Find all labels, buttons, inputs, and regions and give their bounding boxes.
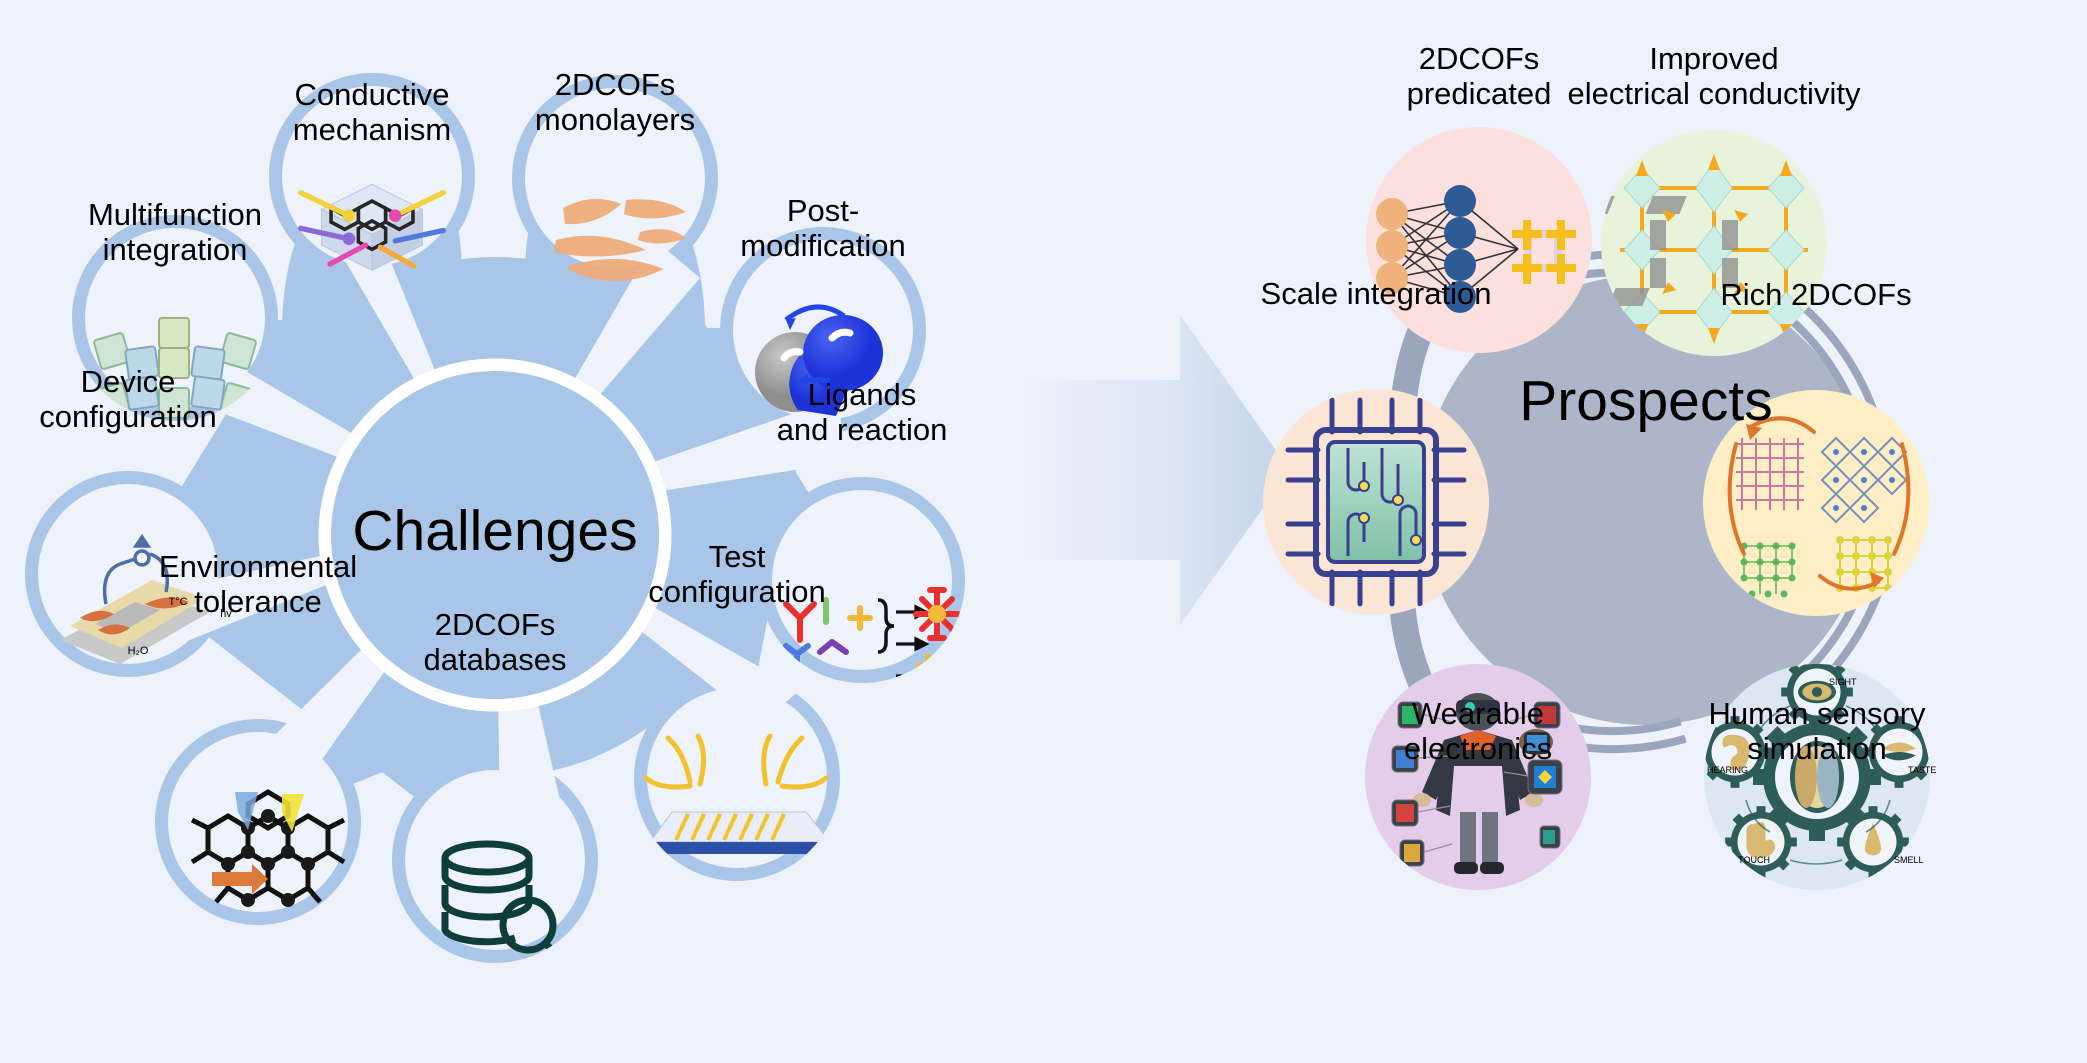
challenges-hub[interactable] [331, 371, 659, 699]
transition-arrow [1010, 315, 1290, 625]
figure-canvas: Challenges Conductive mechanism 2DCOFs m… [0, 0, 2087, 1063]
prospects-group [1263, 127, 1935, 890]
gear-touch [1725, 806, 1797, 878]
gear-smell [1837, 806, 1909, 878]
gear-hearing [1699, 716, 1771, 788]
figure-svg [0, 0, 2087, 1063]
challenges-group [25, 73, 965, 964]
bubble-rich-2dcofs[interactable] [1703, 390, 1929, 616]
gear-sight [1781, 656, 1853, 728]
